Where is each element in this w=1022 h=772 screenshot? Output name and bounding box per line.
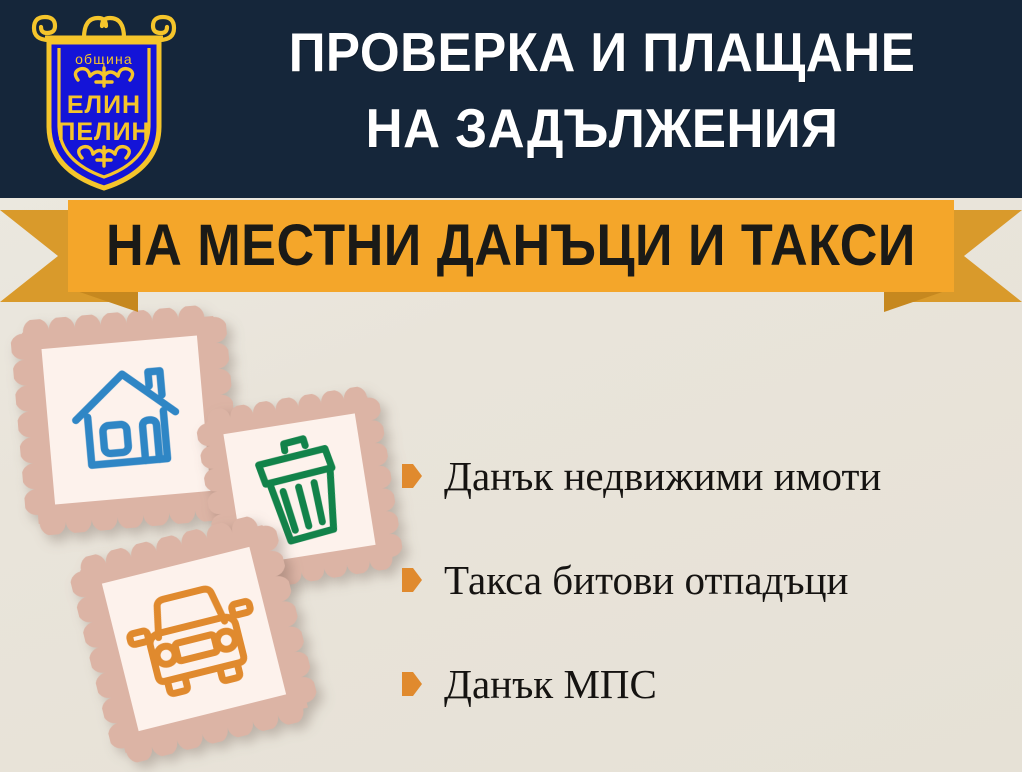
list-item[interactable]: Данък недвижими имоти bbox=[402, 424, 1014, 528]
emblem-text-elin: ЕЛИН bbox=[67, 91, 141, 119]
list-item-label: Данък недвижими имоти bbox=[444, 453, 881, 499]
header-bar: община ЕЛИН ПЕЛИН bbox=[0, 0, 1022, 198]
list-item-label: Данък МПС bbox=[444, 661, 657, 707]
coat-of-arms-shield-icon: община ЕЛИН ПЕЛИН bbox=[18, 8, 190, 194]
emblem-text-obshtina: община bbox=[75, 51, 133, 67]
ribbon-label: НА МЕСТНИ ДАНЪЦИ И ТАКСИ bbox=[106, 217, 916, 275]
arrow-bullet-icon bbox=[402, 672, 422, 696]
arrow-bullet-icon bbox=[402, 568, 422, 592]
header-title-block: ПРОВЕРКА И ПЛАЩАНЕ НА ЗАДЪЛЖЕНИЯ bbox=[196, 14, 1008, 166]
arrow-bullet-icon bbox=[402, 464, 422, 488]
list-item-label: Такса битови отпадъци bbox=[444, 557, 848, 603]
municipality-emblem: община ЕЛИН ПЕЛИН bbox=[18, 8, 190, 194]
stamp-paper bbox=[41, 335, 210, 504]
tax-type-list: Данък недвижими имоти Такса битови отпад… bbox=[402, 424, 1014, 736]
page-title-line-2: НА ЗАДЪЛЖЕНИЯ bbox=[224, 90, 979, 166]
page-title-line-1: ПРОВЕРКА И ПЛАЩАНЕ bbox=[224, 14, 979, 90]
emblem-text-pelin: ПЕЛИН bbox=[57, 118, 150, 146]
subtitle-ribbon: НА МЕСТНИ ДАНЪЦИ И ТАКСИ bbox=[0, 196, 1022, 314]
list-item[interactable]: Такса битови отпадъци bbox=[402, 528, 1014, 632]
list-item[interactable]: Данък МПС bbox=[402, 632, 1014, 736]
poster-root: община ЕЛИН ПЕЛИН bbox=[0, 0, 1022, 772]
ribbon-banner: НА МЕСТНИ ДАНЪЦИ И ТАКСИ bbox=[68, 200, 954, 292]
